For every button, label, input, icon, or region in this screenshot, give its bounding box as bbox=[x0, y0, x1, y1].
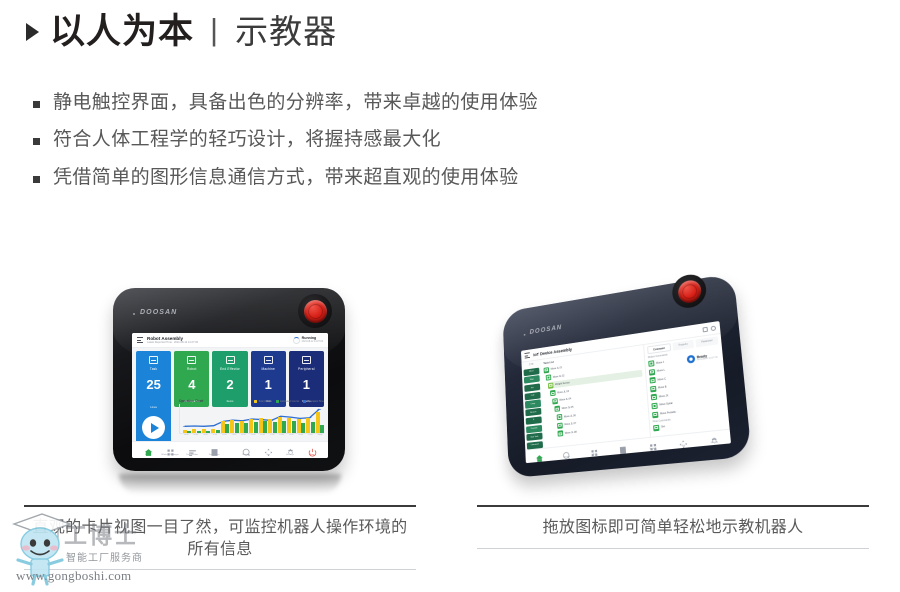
chart-legend: Total Counts Estimated Counts Operation … bbox=[254, 400, 324, 403]
task-node-icon bbox=[550, 390, 556, 396]
kpi-label: End Effector bbox=[220, 367, 240, 371]
caption-text: 拖放图标即可简单轻松地示教机器人 bbox=[477, 507, 869, 548]
filter-icon[interactable] bbox=[702, 326, 708, 332]
command-icon bbox=[649, 369, 655, 376]
bar-estimated-counts bbox=[197, 431, 201, 433]
builder-icon bbox=[188, 448, 197, 457]
task-node-icon bbox=[558, 430, 564, 436]
watermark-brand: 工博士 bbox=[64, 516, 139, 550]
list-menu-icon[interactable] bbox=[525, 352, 530, 358]
teach-pendant-right: DOOSAN IoT Device Assembly CTR MoveWai bbox=[502, 273, 751, 478]
task-icon bbox=[149, 356, 158, 364]
device-photos: DOOSAN Robot Assembly Latest Reported Ti… bbox=[0, 255, 900, 495]
left-screen-topbar: Robot Assembly Latest Reported Time : 20… bbox=[132, 333, 328, 348]
task-list: Move JL 01Move JL 02Weight SensorMove JL… bbox=[544, 353, 647, 438]
bar-estimated-counts bbox=[282, 421, 286, 433]
bar-group bbox=[268, 404, 276, 433]
run-button[interactable] bbox=[142, 416, 165, 439]
nav-item-jog[interactable]: Jog bbox=[672, 434, 694, 448]
status-ring-icon bbox=[293, 337, 300, 344]
bar-total-counts bbox=[230, 420, 234, 433]
rail-button-if[interactable]: If bbox=[526, 416, 542, 425]
page-title: 以人为本 | 示教器 bbox=[26, 13, 337, 49]
bar-estimated-counts bbox=[216, 430, 220, 433]
bar-total-counts bbox=[287, 418, 291, 433]
bar-total-counts bbox=[268, 419, 272, 433]
x-tick-label: 16:00 bbox=[258, 434, 266, 436]
bar-group bbox=[192, 404, 200, 433]
legend-item: Total Counts bbox=[254, 400, 272, 403]
pointing-hand bbox=[640, 585, 900, 592]
nav-item-home[interactable]: Home bbox=[137, 444, 159, 456]
rail-button-set[interactable]: Set bbox=[524, 383, 540, 392]
nav-item-label: Task Builder bbox=[186, 454, 198, 456]
x-tick-label: 09:00 bbox=[192, 434, 200, 436]
task-node-icon bbox=[548, 382, 554, 388]
list-item: 凭借简单的图形信息通信方式，带来超直观的使用体验 bbox=[33, 167, 853, 189]
bar-group bbox=[202, 404, 210, 433]
peripheral-icon bbox=[302, 356, 311, 364]
list-item: 符合人体工程学的轻巧设计，将握持感最大化 bbox=[33, 129, 853, 151]
slide-root: 以人为本 | 示教器 静电触控界面，具备出色的分辨率，带来卓越的使用体验 符合人… bbox=[0, 0, 900, 592]
doosan-logo: DOOSAN bbox=[140, 309, 177, 316]
watermark-tagline: 智能工厂服务商 bbox=[66, 549, 143, 564]
x-tick-label: 12:00 bbox=[220, 434, 228, 436]
caption-rule-bottom bbox=[477, 548, 869, 549]
screen-subtitle: Latest Reported Time : 2021-08-12 14:27:… bbox=[147, 341, 198, 344]
bar-total-counts bbox=[211, 429, 215, 433]
x-tick-label: 20:00 bbox=[297, 434, 305, 436]
nav-item-label: Home bbox=[145, 454, 151, 456]
task-list-item-label: Move JL 03 bbox=[557, 390, 569, 394]
kpi-label: Peripheral bbox=[298, 367, 315, 371]
x-tick-label: Today bbox=[316, 434, 324, 436]
title-separator: | bbox=[210, 12, 218, 48]
bar-estimated-counts bbox=[244, 423, 248, 433]
gear-icon bbox=[286, 448, 295, 457]
kpi-value: 1 bbox=[303, 378, 310, 391]
nav-item-label: Task bbox=[593, 454, 597, 456]
bar-total-counts bbox=[183, 430, 187, 433]
square-bullet-icon bbox=[33, 138, 40, 145]
status-time: 2021-08-12 14:27:06 bbox=[302, 341, 323, 344]
brand-dot-icon bbox=[133, 313, 135, 315]
nav-item-label: Task Writer bbox=[209, 454, 220, 456]
nav-item-label: Workcell Manager bbox=[161, 454, 179, 456]
nav-item-writer[interactable]: Writer bbox=[613, 440, 634, 454]
emergency-stop-cap[interactable] bbox=[677, 278, 702, 304]
bar-total-counts bbox=[202, 429, 206, 433]
x-tick-label: 21:00 bbox=[306, 434, 314, 436]
nav-item-task-builder[interactable]: Task Builder bbox=[181, 444, 203, 456]
doosan-logo: DOOSAN bbox=[530, 324, 563, 336]
rail-header: CTR bbox=[523, 362, 539, 367]
command-item-label: Move JX bbox=[659, 394, 669, 398]
task-list-item-label: Move JL 08 bbox=[565, 430, 577, 434]
bottom-navigation: HomeWorkcell ManagerTask BuilderTask Wri… bbox=[132, 441, 328, 458]
nav-item-task-writer[interactable]: Task Writer bbox=[203, 444, 225, 456]
bullet-text: 静电触控界面，具备出色的分辨率，带来卓越的使用体验 bbox=[53, 92, 538, 114]
bar-group bbox=[221, 404, 229, 433]
bar-total-counts bbox=[316, 412, 320, 433]
nav-item-setting[interactable]: Setting bbox=[702, 431, 725, 445]
operation-chart: Operation Chart Total Counts Estimated C… bbox=[179, 399, 324, 439]
bar-total-counts bbox=[221, 421, 225, 433]
kpi-sub: Lines bbox=[150, 405, 157, 409]
kpi-value: 4 bbox=[188, 378, 195, 391]
task-list-item-label: Move JL 02 bbox=[553, 374, 565, 378]
bar-total-counts bbox=[249, 419, 253, 433]
chart-x-axis: 08:0009:0010:0011:0012:0013:0014:0015:00… bbox=[179, 434, 324, 436]
bar-group bbox=[230, 404, 238, 433]
monitor-icon bbox=[242, 448, 251, 457]
x-tick-label: 17:00 bbox=[268, 434, 276, 436]
left-screen: Robot Assembly Latest Reported Time : 20… bbox=[132, 333, 328, 458]
nav-item-settings[interactable]: Settings bbox=[279, 444, 301, 456]
task-node-icon bbox=[554, 406, 560, 412]
task-list-item-label: Move JL 05 bbox=[562, 406, 574, 410]
bar-estimated-counts bbox=[292, 421, 296, 433]
nav-item-workcell-manager[interactable]: Workcell Manager bbox=[159, 444, 181, 456]
search-icon[interactable] bbox=[711, 325, 717, 331]
bar-group bbox=[287, 404, 295, 433]
watermark: 工博士 智能工厂服务商 www.gongboshi.com bbox=[6, 510, 156, 590]
bar-total-counts bbox=[278, 417, 282, 433]
task-node-icon bbox=[557, 422, 563, 428]
x-tick-label: 13:00 bbox=[230, 434, 238, 436]
x-tick-label: 18:00 bbox=[277, 434, 285, 436]
emergency-stop-button[interactable] bbox=[671, 272, 708, 310]
chart-title: Operation Chart bbox=[179, 399, 203, 403]
square-bullet-icon bbox=[33, 101, 40, 108]
kpi-value: 2 bbox=[226, 378, 233, 391]
task-node-icon bbox=[544, 367, 550, 373]
x-tick-label: 08:00 bbox=[182, 434, 190, 436]
command-item-label: Move L bbox=[657, 369, 665, 373]
task-list-item-label: Move JL 07 bbox=[564, 422, 576, 426]
nav-item-label: Stop bbox=[310, 454, 315, 456]
bar-group bbox=[249, 404, 257, 433]
emergency-stop-button[interactable] bbox=[298, 294, 332, 328]
bar-group bbox=[211, 404, 219, 433]
list-item: 静电触控界面，具备出色的分辨率，带来卓越的使用体验 bbox=[33, 92, 853, 114]
bar-estimated-counts bbox=[225, 424, 229, 433]
command-icon bbox=[651, 394, 657, 401]
robot-icon bbox=[187, 356, 196, 364]
x-tick-label: 10:00 bbox=[201, 434, 209, 436]
x-tick-label: 11:00 bbox=[211, 434, 219, 436]
bar-total-counts bbox=[259, 418, 263, 433]
right-screen: IoT Device Assembly CTR MoveWaitSetCallL… bbox=[521, 321, 731, 463]
nav-item-label: Jog bbox=[681, 445, 685, 447]
bullet-text: 符合人体工程学的轻巧设计，将握持感最大化 bbox=[53, 129, 441, 151]
teach-pendant-left: DOOSAN Robot Assembly Latest Reported Ti… bbox=[113, 288, 345, 471]
nav-item-home[interactable]: Home bbox=[530, 449, 549, 462]
jog-icon bbox=[264, 448, 273, 457]
bar-group bbox=[306, 404, 314, 433]
legend-item: Estimated Counts bbox=[276, 400, 299, 403]
command-icon bbox=[650, 386, 656, 393]
bar-estimated-counts bbox=[320, 425, 324, 433]
caption-right: 拖放图标即可简单轻松地示教机器人 bbox=[477, 505, 869, 549]
chart-header: Operation Chart Total Counts Estimated C… bbox=[179, 399, 324, 403]
square-bullet-icon bbox=[33, 176, 40, 183]
kpi-value: 1 bbox=[265, 378, 272, 391]
nav-item-label: Settings bbox=[286, 454, 294, 456]
command-icon bbox=[652, 411, 658, 418]
command-item-label: Move B bbox=[658, 386, 667, 390]
bar-estimated-counts bbox=[273, 422, 277, 433]
bar-estimated-counts bbox=[254, 422, 258, 433]
bar-total-counts bbox=[240, 421, 244, 433]
command-icon bbox=[651, 403, 657, 410]
kpi-label: Robot bbox=[187, 367, 197, 371]
cells-icon bbox=[166, 448, 175, 457]
chart-plot-area bbox=[179, 404, 324, 434]
command-item-label: Move C bbox=[657, 377, 666, 381]
bar-estimated-counts bbox=[235, 423, 239, 433]
command-icon bbox=[649, 377, 655, 384]
nav-item-monitor[interactable]: Monitor bbox=[235, 444, 257, 456]
task-list-item-label: Move JL 06 bbox=[564, 414, 576, 418]
brand-dot-icon bbox=[524, 334, 526, 336]
task-node-icon bbox=[552, 398, 558, 404]
legend-item: Operation Time bbox=[303, 400, 324, 403]
bar-total-counts bbox=[306, 418, 310, 433]
bar-estimated-counts bbox=[263, 421, 267, 433]
machine-icon bbox=[264, 356, 273, 364]
task-node-icon bbox=[546, 374, 552, 380]
status-badge: Running 2021-08-12 14:27:06 bbox=[293, 336, 323, 343]
task-node-icon bbox=[557, 414, 563, 420]
writer-icon bbox=[210, 448, 219, 457]
bar-estimated-counts bbox=[187, 431, 191, 433]
emergency-stop-cap[interactable] bbox=[304, 300, 327, 323]
nav-item-jog[interactable]: Jog bbox=[257, 444, 279, 456]
toolbar bbox=[702, 325, 716, 332]
command-item-label: Move J bbox=[656, 360, 664, 364]
list-menu-icon[interactable] bbox=[137, 337, 143, 343]
kpi-label: Task bbox=[150, 367, 157, 371]
title-sub: 示教器 bbox=[235, 15, 337, 48]
bar-group bbox=[183, 404, 191, 433]
bar-group bbox=[259, 404, 267, 433]
triangle-right-icon bbox=[26, 23, 39, 41]
command-item-label: Set bbox=[661, 425, 665, 428]
bar-estimated-counts bbox=[206, 431, 210, 433]
bar-total-counts bbox=[192, 429, 196, 433]
bullet-list: 静电触控界面，具备出色的分辨率，带来卓越的使用体验 符合人体工程学的轻巧设计，将… bbox=[33, 92, 853, 204]
task-list-panel: Task List Move JL 01Move JL 02Weight Sen… bbox=[541, 345, 650, 448]
play-icon bbox=[151, 423, 159, 433]
rail-button-custom[interactable]: Custom bbox=[526, 424, 542, 433]
nav-item-monitor[interactable]: Monitor bbox=[557, 446, 577, 459]
nav-item-task[interactable]: Task bbox=[584, 443, 605, 456]
command-item-label: Move Periodic bbox=[660, 411, 676, 416]
bar-group bbox=[297, 404, 305, 433]
x-tick-label: 15:00 bbox=[249, 434, 257, 436]
command-icon bbox=[648, 360, 654, 367]
kpi-value: 25 bbox=[146, 378, 160, 391]
left-tablet-reflection bbox=[119, 474, 341, 494]
x-tick-label: 19:00 bbox=[287, 434, 295, 436]
command-panel: CommandPropertyParameter Motion Commands… bbox=[643, 334, 730, 437]
task-list-item-label: Weight Sensor bbox=[555, 382, 570, 387]
nav-item-label: Monitor bbox=[242, 454, 249, 456]
rail-button-loop[interactable]: Loop bbox=[525, 400, 541, 409]
bullet-text: 凭借简单的图形信息通信方式，带来超直观的使用体验 bbox=[53, 167, 519, 189]
bar-total-counts bbox=[297, 419, 301, 433]
watermark-url: www.gongboshi.com bbox=[16, 568, 131, 584]
task-list-item-label: Move JL 01 bbox=[551, 366, 563, 370]
bar-estimated-counts bbox=[311, 422, 315, 433]
rail-button-sub-task[interactable]: Sub Task bbox=[526, 433, 542, 442]
command-item-label: Move Spiral bbox=[659, 402, 672, 407]
bar-estimated-counts bbox=[301, 423, 305, 433]
power-icon bbox=[308, 448, 317, 457]
x-tick-label: 14:00 bbox=[239, 434, 247, 436]
home-icon bbox=[144, 448, 153, 457]
nav-item-stop[interactable]: Stop bbox=[301, 444, 323, 456]
title-main: 以人为本 bbox=[50, 14, 194, 49]
kpi-card-task[interactable]: Task 25 Lines Run bbox=[136, 351, 171, 455]
nav-item-search[interactable]: Search bbox=[642, 437, 664, 451]
task-list-item-label: Move JL 04 bbox=[559, 398, 571, 402]
status-ring-icon bbox=[686, 355, 695, 364]
gripper-icon bbox=[226, 356, 235, 364]
kpi-label: Machine bbox=[261, 367, 274, 371]
nav-item-label: Jog bbox=[266, 454, 270, 456]
rail-button-branch[interactable]: Branch bbox=[525, 408, 541, 417]
bar-group bbox=[240, 404, 248, 433]
bar-group bbox=[278, 404, 286, 433]
command-icon bbox=[653, 424, 659, 431]
bar-group bbox=[316, 404, 324, 433]
